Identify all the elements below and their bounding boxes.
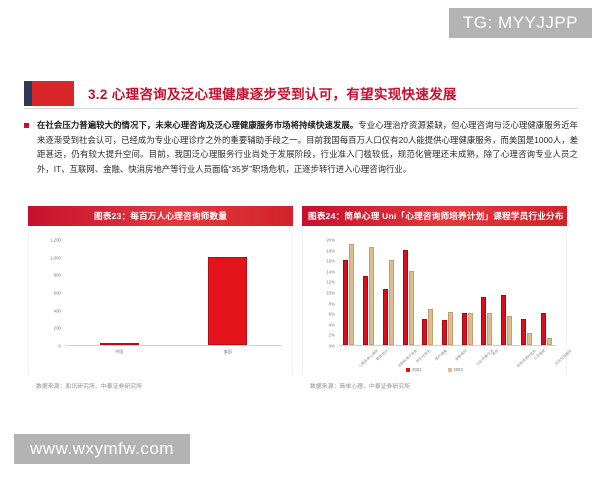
bar-group [456,239,478,345]
x-axis-label: 美国 [202,349,254,355]
bar-美国 [208,257,247,345]
y-axis-tick: 1,000 [50,255,61,260]
bar-2021 [422,319,427,346]
bar-2021 [442,320,447,345]
y-axis-tick: 4% [329,322,335,327]
x-axis-label: 医疗/健康 [434,348,448,361]
y-axis-tick: 1,200 [50,238,61,243]
legend-swatch-icon [406,368,410,372]
bar-2022 [448,312,453,345]
bar-2022 [468,313,473,345]
y-axis-tick: 400 [54,308,61,313]
heading-divider [24,108,578,109]
paragraph-text: 在社会压力普遍较大的情况下，未来心理咨询及泛心理健康服务市场将持续快速发展。专业… [37,118,578,176]
legend-label: 2022 [454,367,463,372]
y-axis-tick: 12% [326,280,335,285]
chart-source-23: 数据来源：和讯研究所、中泰证券研究所 [28,374,293,390]
bar-2021 [343,260,348,345]
bar-group [417,239,439,345]
y-axis-tick: 0% [329,344,335,349]
bar-2021 [501,295,506,345]
watermark-bottom: www.wxymfw.com [14,434,190,464]
y-axis-tick: 20% [326,238,335,243]
bar-2021 [481,297,486,345]
chart-source-24: 数据来源：简单心理、中泰证券研究所 [302,374,567,390]
chart-plot-area-24: 0%2%4%6%8%10%12%14%16%18%20%心理咨询/心理学教育/培… [302,226,567,374]
x-axis-label: 金融/保险 [453,348,467,361]
heading-accent-mark [24,81,74,106]
bar-2022 [547,338,552,345]
chart-23-plot: 02004006008001,0001,200中国美国 [65,240,282,346]
y-axis-tick: 200 [54,326,61,331]
chart-24-plot: 0%2%4%6%8%10%12%14%16%18%20%心理咨询/心理学教育/培… [339,240,556,346]
bar-group [338,239,360,345]
bar-group [535,239,557,345]
legend-label: 2021 [412,367,421,372]
x-axis-line [65,345,282,346]
bar-group [358,239,380,345]
chart-plot-area-23: 02004006008001,0001,200中国美国 [28,226,293,374]
chart-title-23: 图表23：每百万人心理咨询师数量 [28,206,293,226]
y-axis-tick: 0 [59,344,61,349]
y-axis-tick: 800 [54,273,61,278]
bar-group [437,239,459,345]
bar-group [516,239,538,345]
bar-2022 [487,313,492,345]
bar-2022 [349,244,354,345]
bar-2022 [527,333,532,345]
bar-2022 [369,247,374,345]
legend-swatch-icon [448,368,452,372]
bar-group [397,239,419,345]
bar-2022 [428,309,433,345]
x-axis-label: 社区/社会服务 [554,348,573,366]
bullet-square-icon [24,123,29,128]
y-axis-tick: 14% [326,269,335,274]
bar-2021 [462,313,467,345]
bar-中国 [100,343,139,345]
bar-group [476,239,498,345]
y-axis-tick: 10% [326,291,335,296]
y-axis-tick: 6% [329,312,335,317]
red-square-icon [32,81,74,106]
chart-panel-23: 图表23：每百万人心理咨询师数量 02004006008001,0001,200… [28,206,293,396]
legend-item-2021: 2021 [406,367,421,372]
bar-2021 [541,313,546,345]
y-axis-tick: 2% [329,333,335,338]
bar-group [496,239,518,345]
x-axis-label: 中国 [93,349,145,355]
y-axis-tick: 600 [54,291,61,296]
body-paragraph: 在社会压力普遍较大的情况下，未来心理咨询及泛心理健康服务市场将持续快速发展。专业… [24,118,578,176]
page-title: 3.2 心理咨询及泛心理健康逐步受到认可，有望实现快速发展 [88,83,457,103]
bar-2022 [507,316,512,345]
watermark-top: TG: MYYJJPP [449,8,592,38]
chart-panel-24: 图表24：简单心理 Uni「心理咨询师培养计划」课程学员行业分布 0%2%4%6… [302,206,567,396]
y-axis-tick: 18% [326,248,335,253]
paragraph-lead: 在社会压力普遍较大的情况下，未来心理咨询及泛心理健康服务市场将持续快速发展。 [37,120,358,130]
bar-2022 [389,260,394,345]
bar-2021 [363,276,368,345]
bar-group [377,239,399,345]
x-axis-line [339,345,556,346]
chart-24-legend: 20212022 [303,367,566,372]
legend-item-2022: 2022 [448,367,463,372]
chart-title-24: 图表24：简单心理 Uni「心理咨询师培养计划」课程学员行业分布 [302,206,567,226]
bar-2021 [403,250,408,345]
y-axis-tick: 8% [329,301,335,306]
bar-2021 [383,289,388,345]
navy-bar-icon [24,81,32,106]
y-axis-tick: 16% [326,259,335,264]
bar-2022 [409,271,414,345]
bar-2021 [521,319,526,346]
section-heading: 3.2 心理咨询及泛心理健康逐步受到认可，有望实现快速发展 [24,80,457,106]
